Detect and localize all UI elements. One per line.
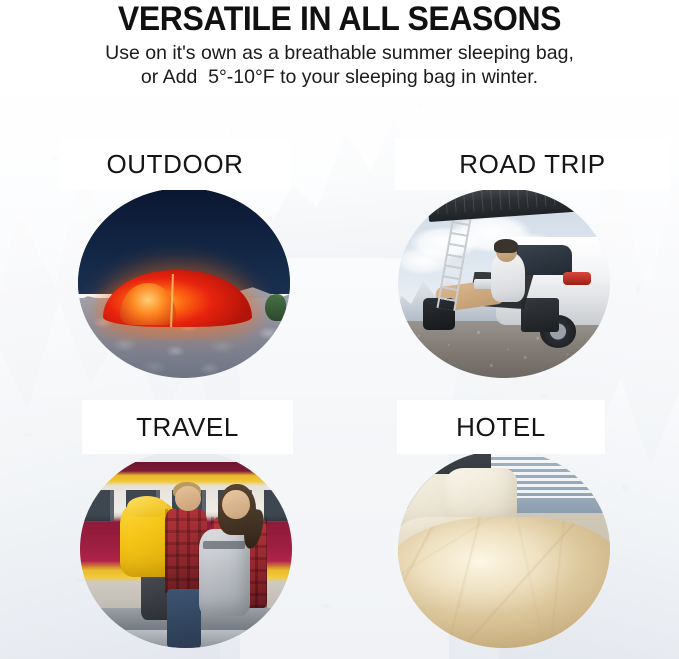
card-image-road-trip: [398, 188, 610, 378]
card-label-text-outdoor: OUTDOOR: [106, 151, 243, 177]
duvet-folds: [398, 517, 610, 648]
storage-box: [521, 298, 559, 332]
card-label-text-hotel: HOTEL: [456, 414, 546, 440]
person-hair: [494, 239, 517, 252]
photo-travel-train: [80, 450, 292, 648]
traveler-man-jeans: [167, 589, 201, 648]
card-image-travel: [80, 450, 292, 648]
card-label-hotel: HOTEL: [397, 400, 605, 454]
subtitle-line-1: Use on it's own as a breathable summer s…: [0, 37, 679, 65]
yellow-backpack-lid: [127, 496, 167, 518]
photo-road-trip: [398, 188, 610, 378]
car-taillight: [563, 272, 591, 285]
card-label-outdoor: OUTDOOR: [60, 138, 290, 190]
card-label-text-road-trip: ROAD TRIP: [459, 151, 606, 177]
product-feature-image: VERSATILE IN ALL SEASONS Use on it's own…: [0, 0, 679, 659]
page-title: VERSATILE IN ALL SEASONS: [20, 0, 658, 37]
traveler-man-head: [175, 486, 200, 512]
photo-outdoor-tent: [78, 188, 290, 378]
header: VERSATILE IN ALL SEASONS Use on it's own…: [0, 0, 679, 89]
green-gear: [265, 294, 286, 321]
card-label-travel: TRAVEL: [82, 400, 293, 454]
grey-backpack-strap: [203, 541, 245, 549]
card-label-text-travel: TRAVEL: [136, 414, 239, 440]
photo-hotel-bed: [398, 450, 610, 648]
card-image-outdoor: [78, 188, 290, 378]
card-label-road-trip: ROAD TRIP: [395, 138, 670, 190]
card-image-hotel: [398, 450, 610, 648]
subtitle-line-2: or Add 5°-10°F to your sleeping bag in w…: [0, 65, 679, 89]
traveler-woman-head: [222, 490, 250, 520]
